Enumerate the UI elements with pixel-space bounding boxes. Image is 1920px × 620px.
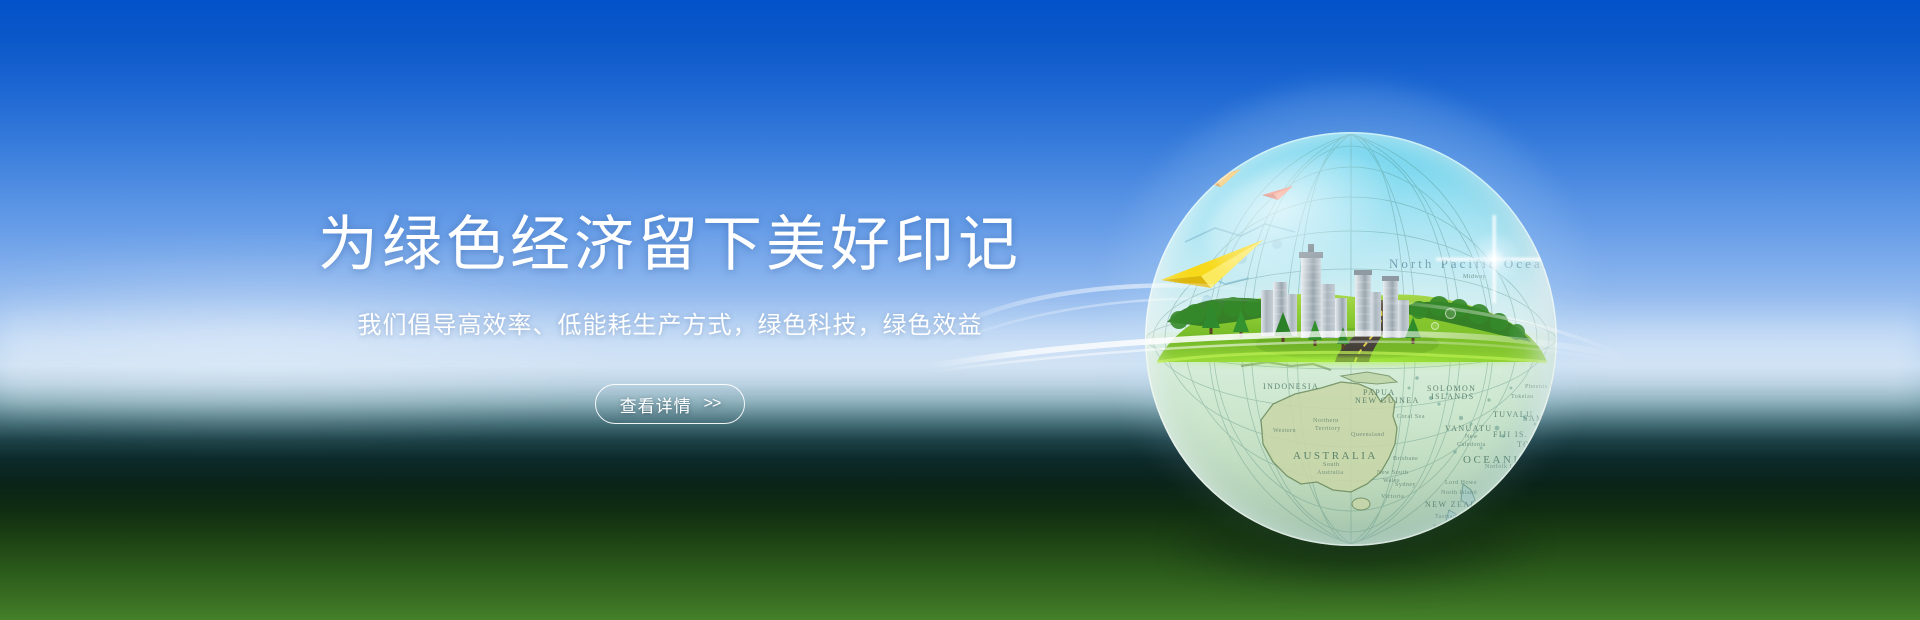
page-title: 为绿色经济留下美好印记 <box>0 210 1340 281</box>
lens-flare-bokeh-1 <box>1445 308 1456 319</box>
hero-banner: North Pacific Ocean OCEANIAAUSTRALIA PAP… <box>0 0 1920 620</box>
view-details-label: 查看详情 <box>620 392 692 417</box>
lens-flare-core <box>1466 231 1522 287</box>
banner-copy: 为绿色经济留下美好印记 我们倡导高效率、低能耗生产方式，绿色科技，绿色效益 查看… <box>0 210 1340 424</box>
view-details-button[interactable]: 查看详情 >> <box>595 384 746 424</box>
cta-container: 查看详情 >> <box>0 384 1340 424</box>
page-subtitle: 我们倡导高效率、低能耗生产方式，绿色科技，绿色效益 <box>0 309 1340 343</box>
chevron-right-icon: >> <box>704 395 721 413</box>
lens-flare-bokeh-2 <box>1431 322 1439 330</box>
lens-flare-icon <box>1493 258 1495 260</box>
